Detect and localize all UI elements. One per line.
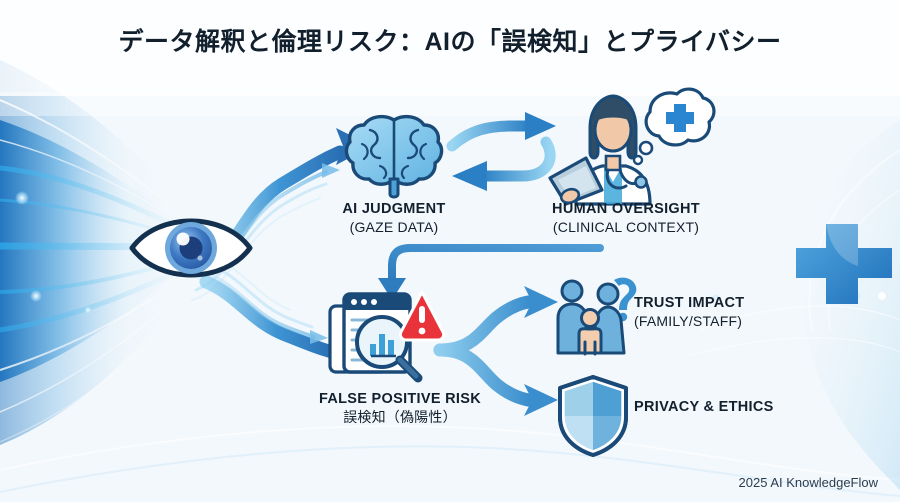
ai-judgment-title: AI JUDGMENT	[288, 200, 500, 219]
label-ai-judgment: AI JUDGMENT (GAZE DATA)	[288, 200, 500, 236]
ai-judgment-subtitle: (GAZE DATA)	[288, 219, 500, 237]
false-positive-risk-title: FALSE POSITIVE RISK	[280, 390, 520, 409]
false-positive-risk-subtitle: 誤検知（偽陽性）	[280, 409, 520, 427]
privacy-ethics-title: PRIVACY & ETHICS	[634, 398, 864, 417]
connector-brain-to-human-bottom	[452, 142, 550, 191]
connector-brain-to-human-top	[452, 112, 556, 146]
label-trust-impact: TRUST IMPACT (FAMILY/STAFF)	[634, 294, 864, 330]
shield-icon	[556, 374, 630, 458]
medical-cross-icon	[796, 216, 900, 306]
thought-bubble-icon	[634, 89, 714, 164]
brain-icon	[344, 112, 444, 198]
footer-credit: 2025 AI KnowledgeFlow	[739, 475, 878, 490]
slide-canvas: データ解釈と倫理リスク：AIの「誤検知」とプライバシー	[0, 0, 900, 502]
eye-icon	[126, 198, 256, 298]
page-title: データ解釈と倫理リスク：AIの「誤検知」とプライバシー	[0, 22, 900, 58]
label-false-positive-risk: FALSE POSITIVE RISK 誤検知（偽陽性）	[280, 390, 520, 426]
human-oversight-subtitle: (CLINICAL CONTEXT)	[505, 219, 747, 237]
trust-impact-subtitle: (FAMILY/STAFF)	[634, 313, 864, 331]
label-privacy-ethics: PRIVACY & ETHICS	[634, 398, 864, 417]
human-oversight-title: HUMAN OVERSIGHT	[505, 200, 747, 219]
doctor-icon	[546, 86, 706, 204]
label-human-oversight: HUMAN OVERSIGHT (CLINICAL CONTEXT)	[505, 200, 747, 236]
risk-dashboard-icon	[326, 288, 444, 380]
trust-impact-title: TRUST IMPACT	[634, 294, 864, 313]
family-icon	[552, 276, 644, 356]
